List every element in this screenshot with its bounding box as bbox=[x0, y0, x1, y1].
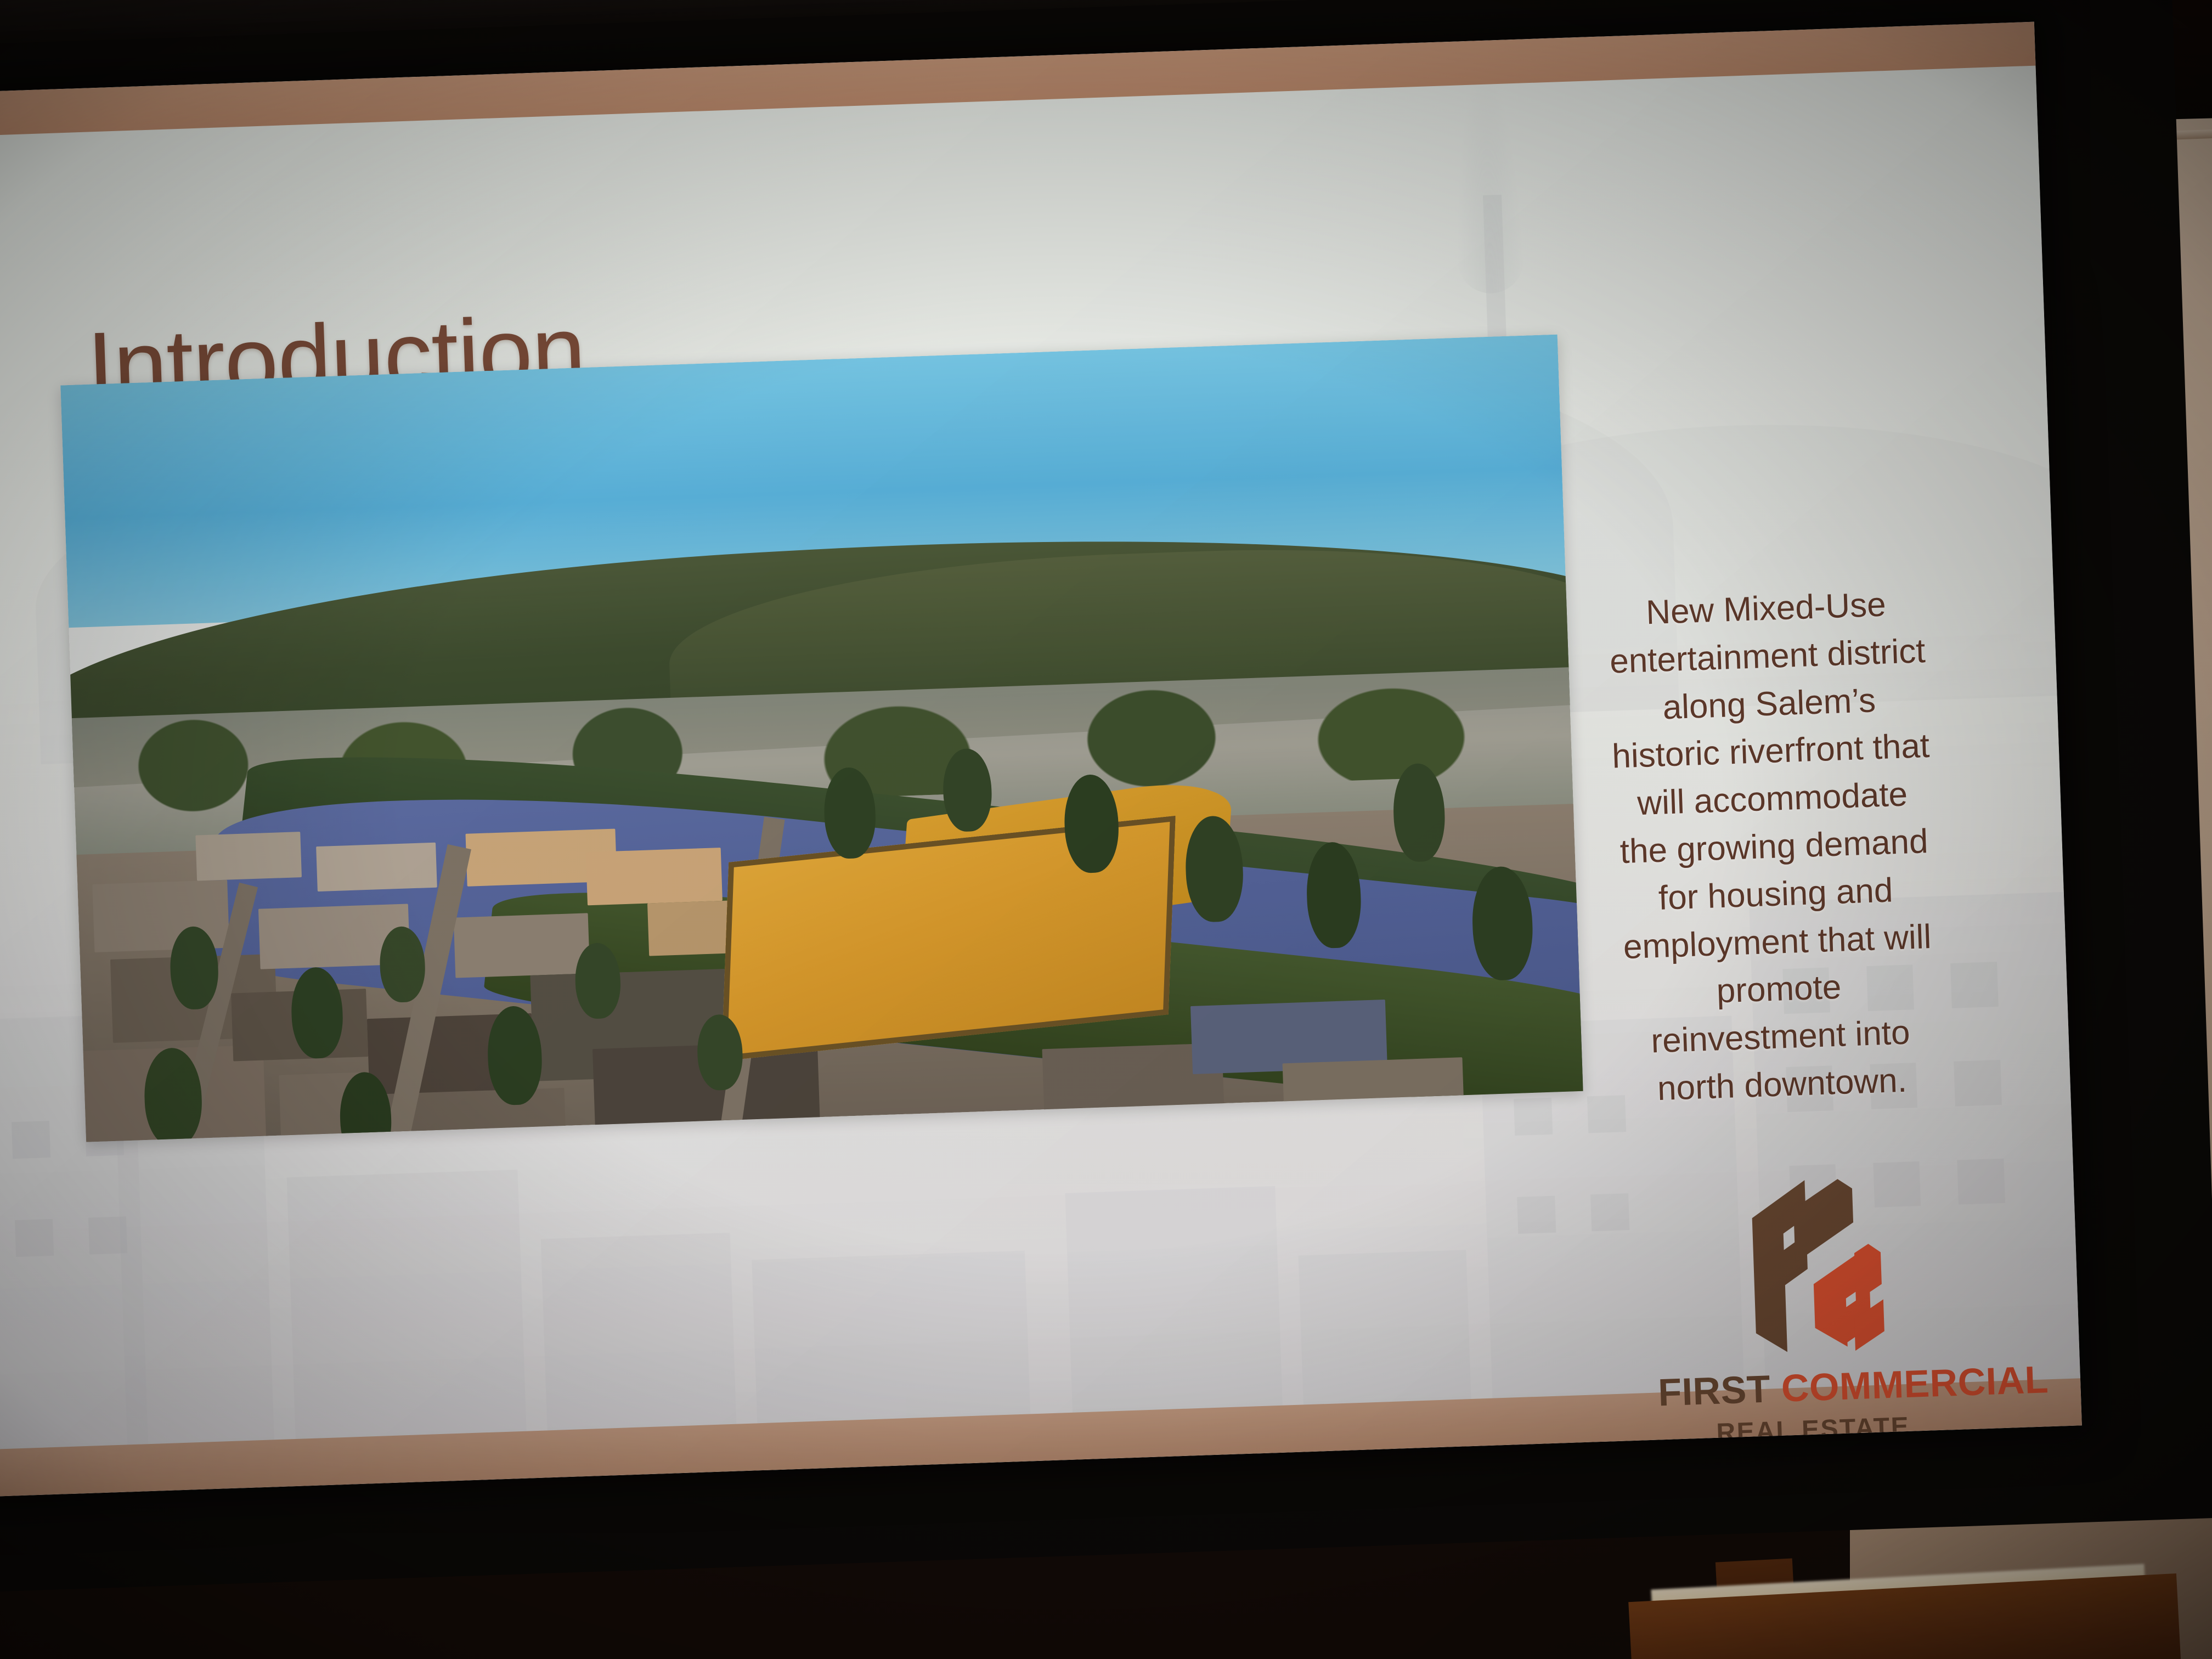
aerial-photo bbox=[60, 335, 1583, 1142]
photo-building bbox=[586, 848, 723, 905]
company-logo: FIRST COMMERCIAL REAL ESTATE bbox=[1651, 1172, 1967, 1451]
photo-building bbox=[453, 913, 590, 978]
fc-monogram-icon bbox=[1722, 1174, 1893, 1361]
photo-building bbox=[1283, 1057, 1464, 1124]
photo-building bbox=[196, 832, 302, 881]
projector-screen-surface: Introduction bbox=[0, 22, 2082, 1497]
logo-word-commercial: COMMERCIAL bbox=[1781, 1358, 2050, 1410]
presentation-slide: Introduction bbox=[0, 22, 2082, 1497]
slide-body-text: New Mixed-Use entertainment district alo… bbox=[1606, 580, 1942, 1114]
photo-building bbox=[316, 842, 437, 891]
logo-word-first: FIRST bbox=[1657, 1368, 1771, 1414]
logo-wordmark: FIRST COMMERCIAL bbox=[1657, 1360, 1966, 1414]
room-scene: DA-LITE Model C bbox=[0, 0, 2212, 1659]
